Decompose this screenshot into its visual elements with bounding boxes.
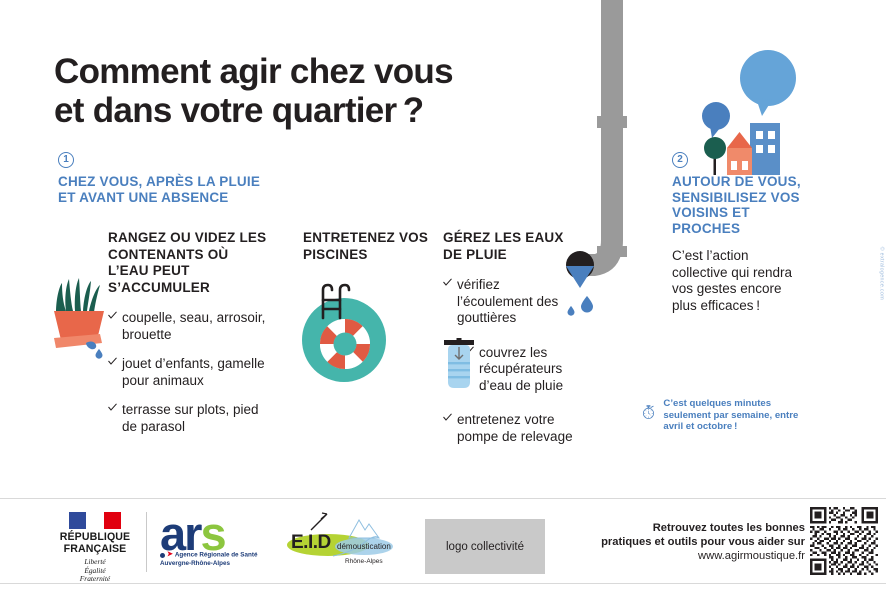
footer-url[interactable]: www.agirmoustique.fr — [560, 549, 805, 564]
section-1: 1 CHEZ VOUS, APRÈS LA PLUIE ET AVANT UNE… — [58, 152, 358, 205]
check-icon — [108, 403, 117, 412]
list-item-label: couvrez les récupérateurs d’eau de pluie — [479, 345, 563, 393]
swimming-pool-illustration — [292, 278, 397, 383]
section-1-heading-line-2: ET AVANT UNE ABSENCE — [58, 190, 358, 206]
ars-arrow-icon: ➤ — [167, 551, 173, 559]
column-containers: RANGEZ OU VIDEZ LES CONTENANTS OÙ L’EAU … — [108, 230, 268, 448]
check-icon — [443, 413, 452, 422]
list-item-label: coupelle, seau, arrosoir, brouette — [122, 310, 265, 342]
list-item: entretenez votre pompe de relevage — [443, 412, 573, 445]
page-title: Comment agir chez vous et dans votre qua… — [54, 52, 614, 130]
time-note-text: C’est quelques minutes seulement par sem… — [663, 396, 807, 433]
republique-name: RÉPUBLIQUE FRANÇAISE — [50, 532, 140, 555]
collectivity-logo-placeholder: logo collectivité — [425, 519, 545, 574]
section-2-heading: AUTOUR DE VOUS, SENSIBILISEZ VOS VOISINS… — [672, 174, 802, 236]
footer-cta-line-2: pratiques et outils pour vous aider sur — [560, 535, 805, 549]
list-item: vérifiez l’écoulement des gouttières — [443, 277, 573, 327]
footer-cta: Retrouvez toutes les bonnes pratiques et… — [560, 521, 805, 564]
stopwatch-icon — [642, 396, 655, 428]
list-item: terrasse sur plots, pied de parasol — [108, 402, 268, 435]
list-item-label: entretenez votre pompe de relevage — [457, 412, 573, 444]
infographic-poster: Comment agir chez vous et dans votre qua… — [0, 0, 886, 591]
column-containers-list: coupelle, seau, arrosoir, brouette jouet… — [108, 310, 268, 435]
ars-wordmark: ars — [160, 510, 270, 557]
list-item-label: vérifiez l’écoulement des gouttières — [457, 277, 558, 325]
ars-logo: ars ➤Agence Régionale de Santé Auvergne-… — [160, 510, 270, 572]
check-icon — [108, 311, 117, 320]
column-pools-heading: ENTRETENEZ VOS PISCINES — [303, 230, 433, 263]
section-2-number: 2 — [672, 152, 688, 168]
republique-name-line-1: RÉPUBLIQUE — [50, 532, 140, 544]
eid-logo: E.I.D démoustication Rhône-Alpes — [285, 512, 410, 572]
check-icon — [443, 278, 452, 287]
column-pools: ENTRETENEZ VOS PISCINES — [303, 230, 433, 263]
republique-motto: Liberté Égalité Fraternité — [50, 558, 140, 584]
republique-francaise-logo: RÉPUBLIQUE FRANÇAISE Liberté Égalité Fra… — [50, 512, 140, 584]
check-icon — [108, 357, 117, 366]
list-item: coupelle, seau, arrosoir, brouette — [108, 310, 268, 343]
ars-subtitle-line-2: Auvergne-Rhône-Alpes — [160, 560, 270, 568]
mosquito-icon — [309, 512, 335, 534]
french-flag-icon — [69, 512, 121, 529]
eid-name: E.I.D — [291, 532, 331, 554]
footer-divider-top — [0, 498, 886, 499]
rain-barrel-icon — [438, 338, 480, 396]
footer-cta-line-1: Retrouvez toutes les bonnes — [560, 521, 805, 535]
section-2-body: C’est l’action collective qui rendra vos… — [672, 248, 797, 314]
section-1-heading-line-1: CHEZ VOUS, APRÈS LA PLUIE — [58, 174, 358, 190]
republique-name-line-2: FRANÇAISE — [50, 544, 140, 556]
ars-subtitle: ➤Agence Régionale de Santé Auvergne-Rhôn… — [160, 551, 270, 568]
page-title-line-1: Comment agir chez vous — [54, 52, 614, 91]
page-title-line-2: et dans votre quartier ? — [54, 91, 614, 130]
plant-pot-illustration — [42, 277, 114, 362]
footer-separator — [146, 512, 147, 572]
ars-subtitle-line-1: Agence Régionale de Santé — [175, 552, 258, 559]
list-item-label: terrasse sur plots, pied de parasol — [122, 402, 259, 434]
column-rainwater-heading: GÉREZ LES EAUX DE PLUIE — [443, 230, 573, 263]
eid-mountain-icon — [331, 512, 406, 562]
section-1-number: 1 — [58, 152, 74, 168]
time-note: C’est quelques minutes seulement par sem… — [642, 396, 807, 433]
credit-text: © extralogence.com — [878, 247, 884, 300]
eid-subtitle: démoustication — [337, 542, 391, 551]
qr-code[interactable] — [810, 507, 878, 575]
motto-line-3: Fraternité — [50, 575, 140, 584]
list-item-label: jouet d’enfants, gamelle pour animaux — [122, 356, 265, 388]
list-item: couvrez les récupérateurs d’eau de pluie — [465, 345, 573, 395]
list-item: jouet d’enfants, gamelle pour animaux — [108, 356, 268, 389]
eid-region: Rhône-Alpes — [345, 558, 383, 565]
ars-dot-icon — [160, 553, 165, 558]
column-containers-heading: RANGEZ OU VIDEZ LES CONTENANTS OÙ L’EAU … — [108, 230, 268, 296]
section-2: 2 AUTOUR DE VOUS, SENSIBILISEZ VOS VOISI… — [672, 152, 802, 236]
section-1-heading: CHEZ VOUS, APRÈS LA PLUIE ET AVANT UNE A… — [58, 174, 358, 205]
